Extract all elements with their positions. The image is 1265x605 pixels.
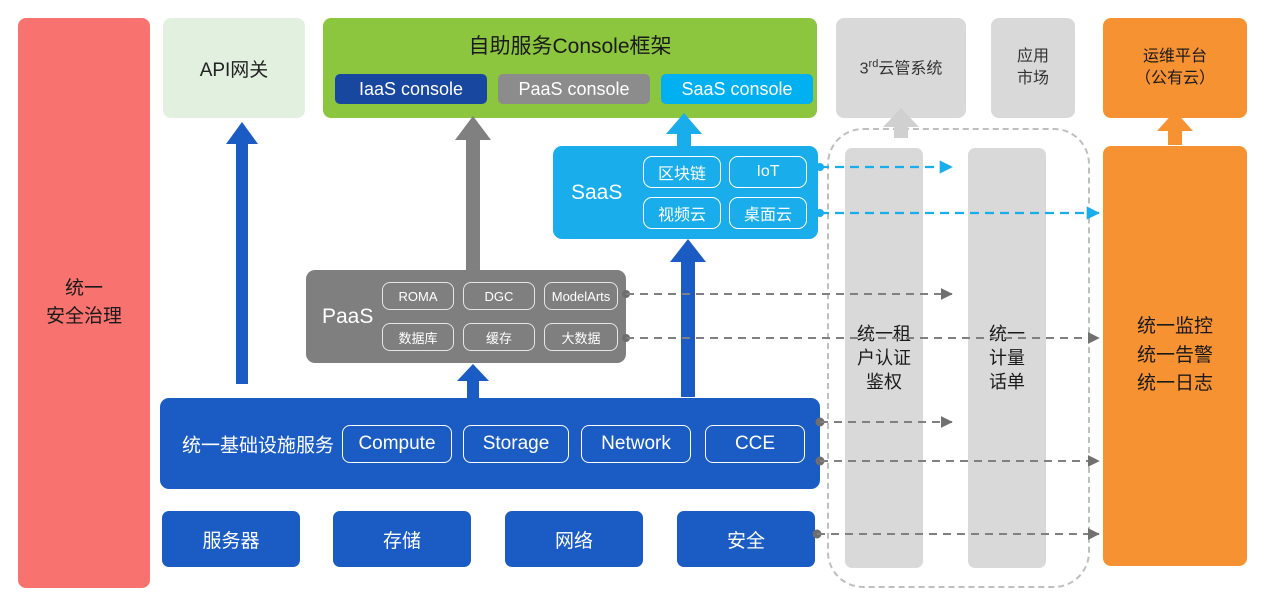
iaas-console-label: IaaS console [359, 79, 463, 100]
unified-infrastructure-bar[interactable]: 统一基础设施服务 Compute Storage Network CCE [160, 398, 820, 489]
iaas-service-network-label: Network [601, 433, 671, 455]
saas-service-video-cloud[interactable]: 视频云 [643, 197, 721, 229]
ops-col-line-1: 统一监控 [1137, 313, 1213, 342]
saas-service-desktop-cloud[interactable]: 桌面云 [729, 197, 807, 229]
security-line-1: 统一 [65, 275, 103, 303]
iaas-label: 统一基础设施服务 [182, 430, 334, 457]
app-market-block[interactable]: 应用 市场 [991, 18, 1075, 118]
saas-block[interactable]: SaaS 区块链 IoT 视频云 桌面云 [553, 146, 818, 239]
iaas-service-cce-label: CCE [735, 433, 775, 455]
third-party-cloud-mgmt-block[interactable]: 3rd云管系统 [836, 18, 966, 118]
unified-metering-billing-column[interactable]: 统一 计量 话单 [968, 148, 1046, 568]
ops-platform-line-1: 运维平台 [1143, 46, 1207, 68]
unified-tenant-auth-column[interactable]: 统一租 户认证 鉴权 [845, 148, 923, 568]
paas-service-dgc[interactable]: DGC [463, 282, 535, 310]
console-frame-title: 自助服务Console框架 [323, 30, 817, 60]
resource-box-storage[interactable]: 存储 [333, 511, 471, 567]
api-gateway-label: API网关 [200, 55, 269, 82]
metering-line-2: 计量 [989, 346, 1025, 370]
paas-console-label: PaaS console [518, 79, 629, 100]
paas-service-cache[interactable]: 缓存 [463, 323, 535, 351]
ops-platform-public-cloud-block[interactable]: 运维平台 （公有云） [1103, 18, 1247, 118]
saas-service-iot[interactable]: IoT [729, 156, 807, 188]
resource-box-network[interactable]: 网络 [505, 511, 643, 567]
metering-line-1: 统一 [989, 322, 1025, 346]
tenant-auth-line-1: 统一租 [857, 322, 911, 346]
paas-service-cache-label: 缓存 [486, 328, 512, 347]
paas-service-roma-label: ROMA [399, 289, 438, 304]
paas-service-bigdata[interactable]: 大数据 [544, 323, 618, 351]
app-market-line-2: 市场 [1017, 68, 1049, 90]
ops-col-line-2: 统一告警 [1137, 342, 1213, 371]
paas-service-roma[interactable]: ROMA [382, 282, 454, 310]
tenant-auth-line-3: 鉴权 [866, 370, 902, 394]
third-party-sup: rd [869, 58, 879, 70]
resource-storage-label: 存储 [383, 526, 421, 553]
iaas-service-storage[interactable]: Storage [463, 425, 569, 463]
saas-service-iot-label: IoT [756, 163, 779, 181]
arrow-iaas-to-api-gateway [226, 122, 258, 384]
arrow-paas-to-console [455, 116, 491, 270]
arrow-iaas-to-saas [670, 239, 706, 397]
paas-service-database-label: 数据库 [398, 328, 437, 347]
paas-service-database[interactable]: 数据库 [382, 323, 454, 351]
arrow-iaas-to-paas [457, 364, 489, 398]
paas-service-modelarts[interactable]: ModelArts [544, 282, 618, 310]
third-party-suffix: 云管系统 [878, 60, 942, 77]
paas-service-bigdata-label: 大数据 [561, 328, 600, 347]
unified-security-governance-block[interactable]: 统一 安全治理 [18, 18, 150, 588]
paas-console-chip[interactable]: PaaS console [498, 74, 650, 104]
third-party-prefix: 3 [860, 60, 869, 77]
paas-service-modelarts-label: ModelArts [552, 289, 611, 304]
iaas-service-compute[interactable]: Compute [342, 425, 452, 463]
paas-service-dgc-label: DGC [485, 289, 514, 304]
saas-console-label: SaaS console [681, 79, 792, 100]
iaas-service-storage-label: Storage [483, 433, 550, 455]
unified-monitoring-column[interactable]: 统一监控 统一告警 统一日志 [1103, 146, 1247, 566]
saas-service-video-cloud-label: 视频云 [658, 201, 706, 225]
iaas-service-compute-label: Compute [358, 433, 435, 455]
saas-console-chip[interactable]: SaaS console [661, 74, 813, 104]
app-market-line-1: 应用 [1017, 46, 1049, 68]
resource-box-security[interactable]: 安全 [677, 511, 815, 567]
resource-network-label: 网络 [555, 526, 593, 553]
self-service-console-frame[interactable]: 自助服务Console框架 IaaS console PaaS console … [323, 18, 817, 118]
iaas-service-cce[interactable]: CCE [705, 425, 805, 463]
security-line-2: 安全治理 [46, 303, 122, 331]
saas-service-desktop-cloud-label: 桌面云 [744, 201, 792, 225]
api-gateway-block[interactable]: API网关 [163, 18, 305, 118]
iaas-service-network[interactable]: Network [581, 425, 691, 463]
third-party-label: 3rd云管系统 [860, 57, 943, 80]
saas-service-blockchain[interactable]: 区块链 [643, 156, 721, 188]
metering-line-3: 话单 [989, 370, 1025, 394]
resource-box-server[interactable]: 服务器 [162, 511, 300, 567]
paas-block[interactable]: PaaS ROMA DGC ModelArts 数据库 缓存 大数据 [306, 270, 626, 363]
ops-platform-line-2: （公有云） [1135, 68, 1215, 90]
saas-label: SaaS [571, 181, 622, 205]
saas-service-blockchain-label: 区块链 [658, 160, 706, 184]
architecture-diagram: 统一 安全治理 API网关 自助服务Console框架 IaaS console… [0, 0, 1265, 605]
ops-col-line-3: 统一日志 [1137, 370, 1213, 399]
iaas-console-chip[interactable]: IaaS console [335, 74, 487, 104]
resource-server-label: 服务器 [202, 526, 259, 553]
resource-security-label: 安全 [727, 526, 765, 553]
tenant-auth-line-2: 户认证 [857, 346, 911, 370]
paas-label: PaaS [322, 305, 373, 329]
